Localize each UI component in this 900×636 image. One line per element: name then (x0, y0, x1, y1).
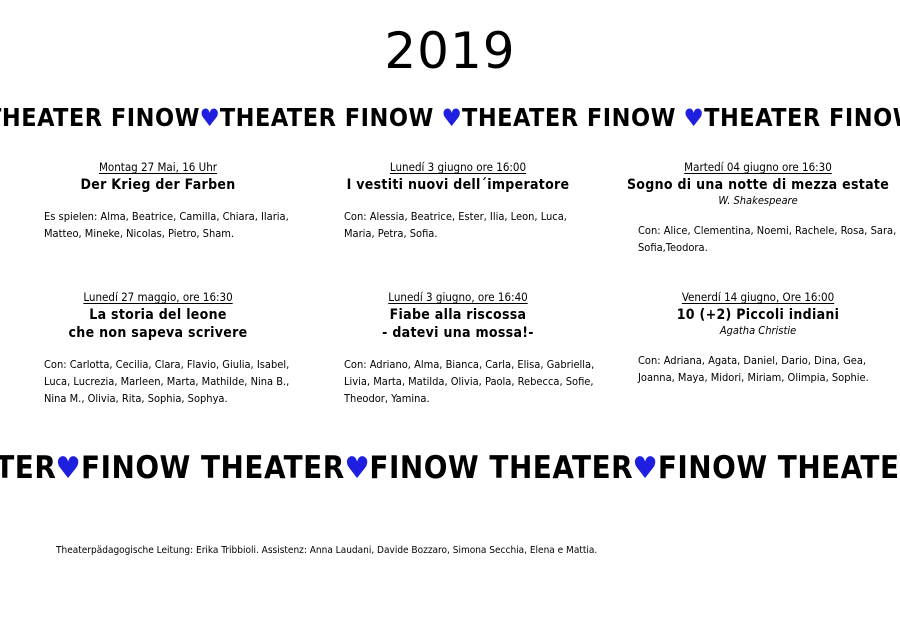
show-cast: Es spielen: Alma, Beatrice, Camilla, Chi… (8, 208, 308, 242)
banner-top-text: THEATER FINOW♥THEATER FINOW ♥THEATER FIN… (0, 100, 900, 136)
show-author: Agatha Christie (608, 324, 900, 338)
show-author: W. Shakespeare (608, 194, 900, 208)
show-date: Lunedí 27 maggio, ore 16:30 (8, 290, 308, 304)
heart-icon: ♥ (684, 100, 705, 136)
shows-grid: Montag 27 Mai, 16 Uhr Der Krieg der Farb… (0, 160, 900, 422)
show-title: 10 (+2) Piccoli indiani (608, 306, 900, 324)
heart-icon: ♥ (632, 448, 658, 489)
show-subtitle: che non sapeva scrivere (8, 324, 308, 342)
show-date: Martedí 04 giugno ore 16:30 (608, 160, 900, 174)
page-title: 2019 (0, 22, 900, 80)
show-cast: Con: Adriano, Alma, Bianca, Carla, Elisa… (308, 356, 608, 407)
show-date: Venerdí 14 giugno, Ore 16:00 (608, 290, 900, 304)
show-subtitle: - datevi una mossa!- (308, 324, 608, 342)
show-title: Der Krieg der Farben (8, 176, 308, 194)
show-title: Fiabe alla riscossa (308, 306, 608, 324)
heart-icon: ♥ (344, 448, 370, 489)
show-title: La storia del leone (8, 306, 308, 324)
banner-bottom-text: EATER♥FINOW THEATER♥FINOW THEATER♥FINOW … (0, 447, 900, 489)
show-title: Sogno di una notte di mezza estate (608, 176, 900, 194)
show-card: Lunedí 3 giugno, ore 16:40 Fiabe alla ri… (308, 290, 608, 407)
show-cast: Con: Carlotta, Cecilia, Clara, Flavio, G… (8, 356, 308, 407)
show-date: Montag 27 Mai, 16 Uhr (8, 160, 308, 174)
show-cast: Con: Alessia, Beatrice, Ester, Ilia, Leo… (308, 208, 608, 242)
show-card: Martedí 04 giugno ore 16:30 Sogno di una… (608, 160, 900, 256)
show-cast: Con: Alice, Clementina, Noemi, Rachele, … (608, 222, 900, 256)
show-card: Venerdí 14 giugno, Ore 16:00 10 (+2) Pic… (608, 290, 900, 386)
show-title: I vestiti nuovi dell´imperatore (308, 176, 608, 194)
show-card: Lunedí 3 giugno ore 16:00 I vestiti nuov… (308, 160, 608, 242)
show-card: Montag 27 Mai, 16 Uhr Der Krieg der Farb… (8, 160, 308, 242)
show-date: Lunedí 3 giugno, ore 16:40 (308, 290, 608, 304)
heart-icon: ♥ (442, 100, 463, 136)
banner-bottom: EATER♥FINOW THEATER♥FINOW THEATER♥FINOW … (0, 447, 900, 489)
banner-top: THEATER FINOW♥THEATER FINOW ♥THEATER FIN… (0, 100, 900, 136)
show-cast: Con: Adriana, Agata, Daniel, Dario, Dina… (608, 352, 900, 386)
heart-icon: ♥ (56, 448, 82, 489)
show-date: Lunedí 3 giugno ore 16:00 (308, 160, 608, 174)
show-card: Lunedí 27 maggio, ore 16:30 La storia de… (8, 290, 308, 407)
footer-credits: Theaterpädagogische Leitung: Erika Tribb… (56, 544, 856, 558)
heart-icon: ♥ (199, 100, 220, 136)
